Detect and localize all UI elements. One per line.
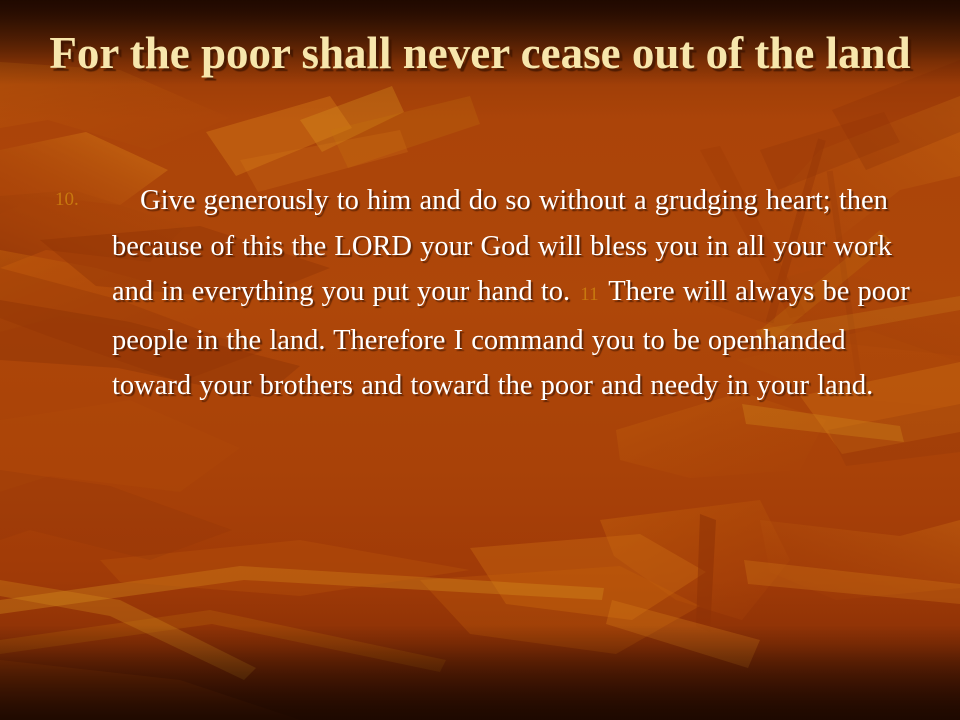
presentation-slide: For the poor shall never cease out of th… [0, 0, 960, 720]
list-item: 10. Give generously to him and do so wit… [55, 178, 910, 409]
list-item-marker: 10. [55, 178, 112, 215]
scripture-paragraph: Give generously to him and do so without… [112, 178, 910, 409]
leaf-veins-lower-left [0, 540, 604, 680]
leaf-veins-upper-center [206, 86, 480, 192]
verse-number-marker: 11 [578, 284, 600, 305]
slide-body: 10. Give generously to him and do so wit… [55, 178, 910, 409]
leaf-shape-lower-left [0, 400, 300, 720]
slide-title: For the poor shall never cease out of th… [44, 26, 916, 80]
leaf-shape-lower-center [420, 500, 960, 668]
